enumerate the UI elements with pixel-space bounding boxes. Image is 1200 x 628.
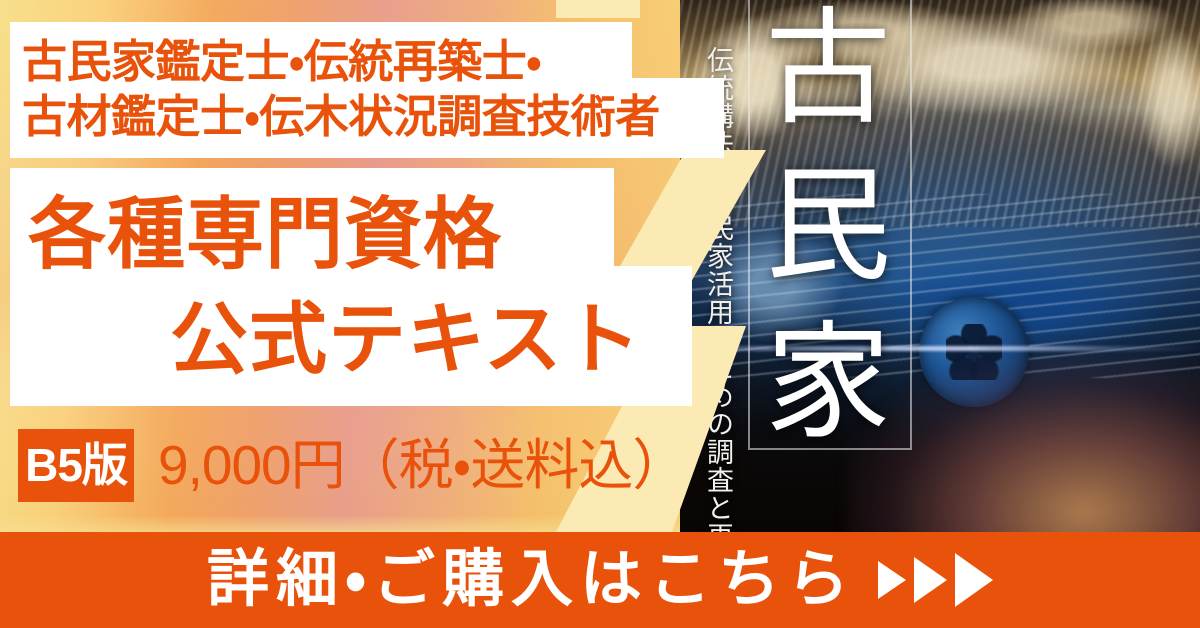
- price-row: B5版 9,000円（税・送料込）: [18, 425, 718, 505]
- chevron-right-icon-2: [914, 557, 947, 603]
- chevron-right-icon-1: [878, 561, 906, 599]
- cta-arrows: [878, 553, 993, 607]
- chevron-right-icon-3: [955, 553, 993, 607]
- cta-label: 詳細・ご購入はこちら: [207, 549, 856, 611]
- promo-banner: 古 民 家 伝統構法 古民家活用のための調査と再生の 古民家鑑定士・伝統再築士・…: [0, 0, 1200, 628]
- headline-block: 各種専門資格 公式テキスト: [10, 168, 696, 406]
- headline-line-2: 公式テキスト: [10, 287, 696, 392]
- cover-title-vertical: 古 民 家: [752, 8, 904, 448]
- cta-bar[interactable]: 詳細・ご購入はこちら: [0, 532, 1200, 628]
- headline-line-1: 各種専門資格: [10, 182, 696, 287]
- subheading-line-2: 古材鑑定士・伝木状況調査技術者: [14, 90, 726, 145]
- cover-title-char-3: 家: [765, 322, 891, 448]
- price-text: 9,000円（税・送料込）: [158, 438, 686, 493]
- book-cover-image: 古 民 家 伝統構法 古民家活用のための調査と再生の: [680, 0, 1200, 540]
- subheading-line-1: 古民家鑑定士・伝統再築士・: [14, 35, 726, 90]
- format-badge: B5版: [18, 429, 134, 502]
- cover-title-char-1: 古: [765, 8, 891, 134]
- subheading-block: 古民家鑑定士・伝統再築士・ 古材鑑定士・伝木状況調査技術者: [14, 22, 726, 158]
- cover-title-char-2: 民: [765, 165, 891, 291]
